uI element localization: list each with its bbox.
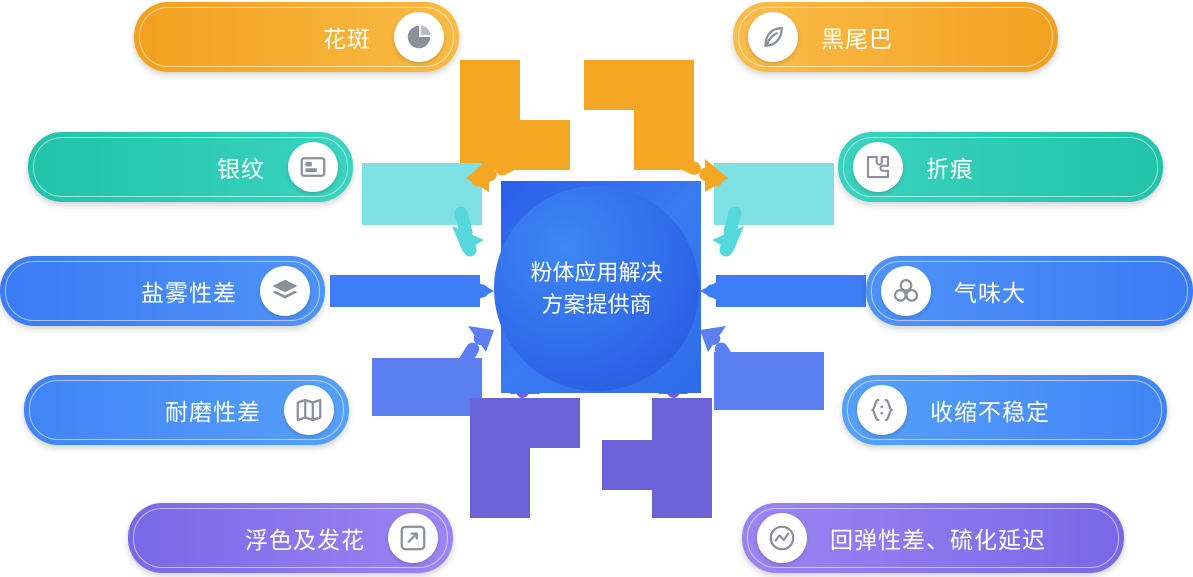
node-shousuo[interactable]: 收缩不稳定 xyxy=(842,375,1167,445)
leaf-icon xyxy=(748,12,798,62)
center-line-1: 粉体应用解决 xyxy=(530,257,662,289)
node-fuse-label: 浮色及发花 xyxy=(245,521,365,555)
connector-block-right-blue2 xyxy=(714,352,824,410)
node-heiweiba[interactable]: 黑尾巴 xyxy=(733,2,1058,72)
node-yinwen-label: 银纹 xyxy=(217,150,265,184)
node-huitan[interactable]: 回弹性差、硫化延迟 xyxy=(742,503,1124,573)
diagram-canvas: 粉体应用解决 方案提供商 花斑 银纹 盐雾性差 xyxy=(0,0,1193,577)
layers-icon xyxy=(260,266,310,316)
node-naimo-label: 耐磨性差 xyxy=(165,393,261,427)
node-huitan-label: 回弹性差、硫化延迟 xyxy=(830,521,1046,555)
center-label: 粉体应用解决 方案提供商 xyxy=(494,186,699,391)
brackets-icon xyxy=(857,385,907,435)
connector-block-left-blue2 xyxy=(372,358,482,416)
connector-block-left-blue xyxy=(330,275,480,307)
node-yanwu-label: 盐雾性差 xyxy=(141,274,237,308)
wave-icon xyxy=(757,513,807,563)
connector-block-top-right-orange2 xyxy=(584,60,694,110)
center-line-2: 方案提供商 xyxy=(530,289,662,321)
connector-block-bottom-left-purple2 xyxy=(470,398,580,448)
node-qiwei[interactable]: 气味大 xyxy=(866,256,1193,326)
node-yinwen[interactable]: 银纹 xyxy=(28,132,353,202)
connector-block-bottom-right-purple2 xyxy=(602,440,712,490)
connector-block-right-blue xyxy=(716,275,866,307)
book-icon xyxy=(284,385,334,435)
node-fuse[interactable]: 浮色及发花 xyxy=(128,503,453,573)
node-naimo[interactable]: 耐磨性差 xyxy=(24,375,349,445)
connector-block-right-cyan xyxy=(714,163,834,225)
node-yanwu[interactable]: 盐雾性差 xyxy=(0,256,325,326)
node-qiwei-label: 气味大 xyxy=(954,274,1026,308)
node-zhehen-label: 折痕 xyxy=(926,150,974,184)
node-heiweiba-label: 黑尾巴 xyxy=(821,20,893,54)
layout-icon xyxy=(288,142,338,192)
trend-up-icon xyxy=(388,513,438,563)
node-zhehen[interactable]: 折痕 xyxy=(838,132,1163,202)
puzzle-icon xyxy=(853,142,903,192)
connector-block-left-cyan xyxy=(362,163,482,225)
molecule-icon xyxy=(881,266,931,316)
node-huaban-label: 花斑 xyxy=(323,20,371,54)
node-shousuo-label: 收缩不稳定 xyxy=(930,393,1050,427)
pie-chart-icon xyxy=(394,12,444,62)
node-huaban[interactable]: 花斑 xyxy=(134,2,459,72)
